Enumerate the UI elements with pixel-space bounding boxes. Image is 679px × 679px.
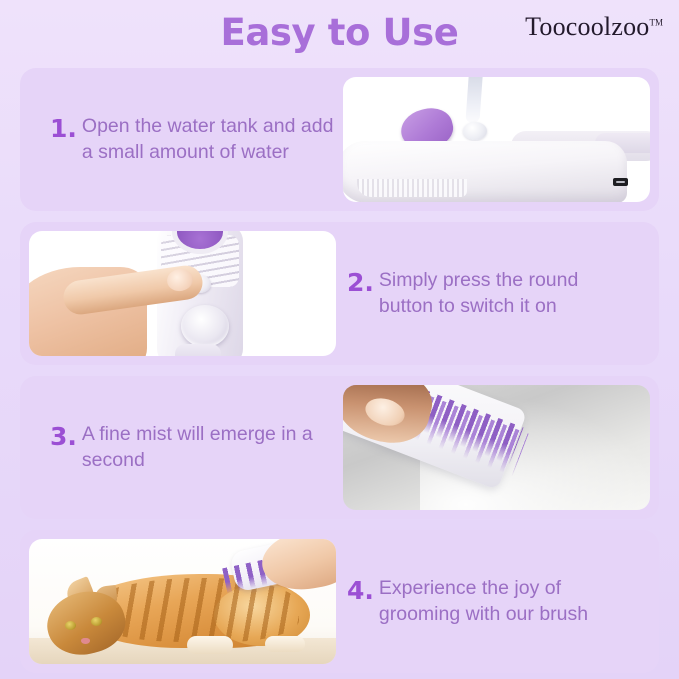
device-comb-graphic	[357, 179, 467, 197]
water-stream-graphic	[465, 77, 482, 123]
brand-name: Toocoolzoo	[525, 12, 649, 41]
step-2-description: Simply press the round button to switch …	[379, 268, 631, 319]
step-4-description: Experience the joy of grooming with our …	[379, 576, 631, 627]
infographic-page: Easy to Use ToocoolzooTM 1. Open the wat…	[0, 0, 679, 679]
step-2-image	[29, 231, 336, 356]
step-1-text-pane: 1. Open the water tank and add a small a…	[20, 68, 350, 211]
step-1-description: Open the water tank and add a small amou…	[82, 114, 334, 165]
cat-right-eye-graphic	[91, 617, 102, 626]
step-3-number: 3.	[50, 422, 77, 452]
step-3-image	[343, 385, 650, 510]
cat-left-eye-graphic	[65, 621, 76, 630]
step-card-3: 3. A fine mist will emerge in a second	[20, 376, 659, 519]
step-1-number: 1.	[50, 114, 77, 144]
trademark-symbol: TM	[650, 17, 664, 27]
step-card-2: 2. Simply press the round button to swit…	[20, 222, 659, 365]
step-3-description: A fine mist will emerge in a second	[82, 422, 334, 473]
cat-nose-graphic	[81, 638, 90, 644]
cat-front-paw-graphic	[187, 636, 233, 654]
step-4-image	[29, 539, 336, 664]
round-button-graphic	[181, 305, 229, 347]
usb-port-graphic	[613, 178, 628, 186]
step-2-number: 2.	[347, 268, 374, 298]
step-2-text-pane: 2. Simply press the round button to swit…	[329, 222, 659, 365]
cat-back-paw-graphic	[265, 636, 305, 652]
step-4-text-pane: 4. Experience the joy of grooming with o…	[329, 530, 659, 673]
brand-logo: ToocoolzooTM	[525, 12, 663, 42]
step-card-1: 1. Open the water tank and add a small a…	[20, 68, 659, 211]
step-card-4: 4. Experience the joy of grooming with o…	[20, 530, 659, 673]
header: Easy to Use ToocoolzooTM	[0, 0, 679, 62]
step-3-text-pane: 3. A fine mist will emerge in a second	[20, 376, 350, 519]
device-bottom-graphic	[175, 344, 221, 356]
step-1-image	[343, 77, 650, 202]
step-4-number: 4.	[347, 576, 374, 606]
water-droplet-graphic	[463, 122, 487, 140]
